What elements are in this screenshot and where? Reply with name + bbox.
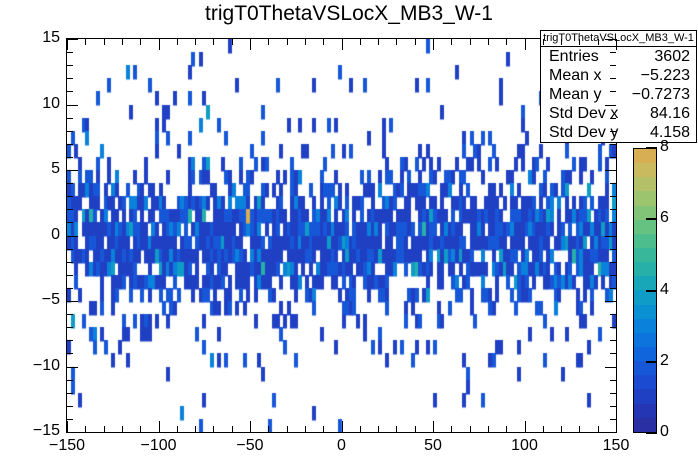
x-axis-tick <box>250 421 251 432</box>
y-axis-tick <box>67 367 78 368</box>
y-axis-tick <box>67 419 73 420</box>
x-axis-tick <box>433 421 434 432</box>
palette-tick <box>646 147 657 149</box>
palette-color-cell <box>634 347 656 361</box>
stats-row: Entries3602 <box>541 47 696 66</box>
y-axis-tick-right <box>610 380 616 381</box>
x-axis-tick-top <box>250 39 251 50</box>
y-axis-tick-right <box>610 91 616 92</box>
y-axis-tick <box>67 91 73 92</box>
palette-color-cell <box>634 149 656 163</box>
y-axis-tick-right <box>610 222 616 223</box>
x-axis-tick-top <box>616 39 617 50</box>
y-axis-tick <box>67 157 73 158</box>
x-axis-tick-top <box>177 39 178 45</box>
x-axis-tick-top <box>470 39 471 45</box>
y-axis-tick-right <box>610 157 616 158</box>
palette-color-cell <box>634 305 656 319</box>
x-axis-tick <box>561 426 562 432</box>
x-axis-tick-top <box>579 39 580 45</box>
y-axis-tick-right <box>610 340 616 341</box>
y-axis-tick-right <box>610 183 616 184</box>
x-axis-label: −150 <box>27 437 107 455</box>
x-axis-tick <box>525 421 526 432</box>
histogram-cells <box>67 39 616 432</box>
x-axis-tick-top <box>140 39 141 45</box>
palette-color-cell <box>634 276 656 290</box>
x-axis-label: −100 <box>119 437 199 455</box>
palette-tick <box>646 361 657 363</box>
x-axis-tick <box>506 426 507 432</box>
y-axis-tick-right <box>610 196 616 197</box>
y-axis-tick <box>67 78 73 79</box>
x-axis-tick <box>268 426 269 432</box>
y-axis-tick <box>67 432 78 433</box>
palette-tick <box>646 290 657 292</box>
y-axis-label: 5 <box>4 160 60 178</box>
palette-color-cell <box>634 234 656 248</box>
y-axis-tick <box>67 393 73 394</box>
y-axis-tick-right <box>610 52 616 53</box>
x-axis-tick-top <box>305 39 306 45</box>
x-axis-tick <box>195 426 196 432</box>
x-axis-label: 150 <box>576 437 656 455</box>
x-axis-tick-top <box>232 39 233 45</box>
x-axis-tick <box>213 426 214 432</box>
palette-color-cell <box>634 163 656 177</box>
palette-color-cell <box>634 262 656 276</box>
y-axis-tick-right <box>610 288 616 289</box>
x-axis-tick-top <box>159 39 160 50</box>
y-axis-tick <box>67 262 73 263</box>
y-axis-tick <box>67 196 73 197</box>
y-axis-tick-right <box>605 236 616 237</box>
x-axis-tick <box>360 426 361 432</box>
palette-tick-label: 8 <box>660 138 669 156</box>
x-axis-tick <box>85 426 86 432</box>
palette-color-cell <box>634 418 656 432</box>
y-axis-label: −5 <box>4 291 60 309</box>
x-axis-tick <box>305 426 306 432</box>
x-axis-tick <box>323 426 324 432</box>
palette-tick-label: 4 <box>660 281 669 299</box>
x-axis-tick-top <box>543 39 544 45</box>
y-axis-tick-right <box>610 118 616 119</box>
y-axis-tick-right <box>610 78 616 79</box>
x-axis-label: 0 <box>302 437 382 455</box>
y-axis-tick-right <box>610 131 616 132</box>
x-axis-tick <box>415 426 416 432</box>
y-axis-tick <box>67 406 73 407</box>
y-axis-tick-right <box>610 406 616 407</box>
x-axis-tick <box>342 421 343 432</box>
y-axis-tick-right <box>610 327 616 328</box>
y-axis-tick-right <box>610 65 616 66</box>
palette-tick-label: 0 <box>660 423 669 441</box>
y-axis-tick-right <box>605 301 616 302</box>
stats-box[interactable]: trigT0ThetaVSLocX_MB3_W-1 Entries3602Mea… <box>540 30 697 143</box>
x-axis-tick-top <box>433 39 434 50</box>
x-axis-label: −50 <box>210 437 290 455</box>
y-axis-tick-right <box>605 39 616 40</box>
y-axis-tick-right <box>605 367 616 368</box>
palette-color-cell <box>634 191 656 205</box>
x-axis-tick <box>378 426 379 432</box>
x-axis-tick <box>616 421 617 432</box>
stats-value: 84.16 <box>650 104 690 123</box>
y-axis-tick <box>67 52 73 53</box>
x-axis-tick <box>177 426 178 432</box>
x-axis-tick-top <box>396 39 397 45</box>
x-axis-tick <box>488 426 489 432</box>
y-axis-tick <box>67 131 73 132</box>
x-axis-tick-top <box>415 39 416 45</box>
x-axis-tick-top <box>195 39 196 45</box>
x-axis-tick-top <box>323 39 324 45</box>
y-axis-tick-right <box>610 419 616 420</box>
stats-key: Std Dev y <box>549 123 618 142</box>
y-axis-tick <box>67 249 73 250</box>
stats-box-title: trigT0ThetaVSLocX_MB3_W-1 <box>541 31 696 47</box>
y-axis-tick <box>67 236 78 237</box>
plot-frame <box>66 38 617 433</box>
palette-color-cell <box>634 248 656 262</box>
x-axis-tick-top <box>598 39 599 45</box>
x-axis-tick-top <box>213 39 214 45</box>
y-axis-tick <box>67 65 73 66</box>
x-axis-tick-top <box>342 39 343 50</box>
palette-color-cell <box>634 389 656 403</box>
y-axis-tick <box>67 275 73 276</box>
y-axis-tick <box>67 288 73 289</box>
x-axis-tick <box>451 426 452 432</box>
y-axis-tick-right <box>605 105 616 106</box>
palette-tick-label: 2 <box>660 352 669 370</box>
x-axis-tick <box>470 426 471 432</box>
x-axis-tick-top <box>360 39 361 45</box>
stats-key: Mean x <box>549 66 601 85</box>
palette-color-cell <box>634 375 656 389</box>
x-axis-tick <box>598 426 599 432</box>
palette-color-cell <box>634 319 656 333</box>
x-axis-tick <box>159 421 160 432</box>
stats-value: 3602 <box>654 47 690 66</box>
x-axis-tick-top <box>268 39 269 45</box>
x-axis-tick <box>287 426 288 432</box>
page-title: trigT0ThetaVSLocX_MB3_W-1 <box>0 2 698 26</box>
palette-color-cell <box>634 177 656 191</box>
y-axis-tick <box>67 118 73 119</box>
x-axis-label: 100 <box>485 437 565 455</box>
y-axis-label: 15 <box>4 29 60 47</box>
stats-key: Entries <box>549 47 599 66</box>
y-axis-tick <box>67 209 73 210</box>
y-axis-tick <box>67 105 78 106</box>
y-axis-tick <box>67 327 73 328</box>
x-axis-tick <box>232 426 233 432</box>
stats-row: Mean x−5.223 <box>541 66 696 85</box>
x-axis-tick-top <box>451 39 452 45</box>
y-axis-tick-right <box>605 170 616 171</box>
palette-color-cell <box>634 361 656 375</box>
y-axis-label: 0 <box>4 226 60 244</box>
x-axis-tick-top <box>378 39 379 45</box>
y-axis-tick <box>67 301 78 302</box>
stats-value: −5.223 <box>641 66 690 85</box>
x-axis-tick-top <box>488 39 489 45</box>
stats-key: Std Dev x <box>549 104 618 123</box>
y-axis-tick-right <box>610 275 616 276</box>
x-axis-tick-top <box>287 39 288 45</box>
x-axis-tick-top <box>85 39 86 45</box>
palette-tick <box>646 432 657 434</box>
x-axis-label: 50 <box>393 437 473 455</box>
y-axis-tick <box>67 39 78 40</box>
x-axis-tick <box>104 426 105 432</box>
y-axis-tick <box>67 314 73 315</box>
y-axis-tick-right <box>610 314 616 315</box>
stats-row: Std Dev x84.16 <box>541 104 696 123</box>
stats-key: Mean y <box>549 85 601 104</box>
palette-color-cell <box>634 220 656 234</box>
x-axis-tick <box>122 426 123 432</box>
stats-rows: Entries3602Mean x−5.223Mean y−0.7273Std … <box>541 47 696 142</box>
x-axis-tick <box>67 421 68 432</box>
y-axis-tick-right <box>605 432 616 433</box>
y-axis-tick <box>67 222 73 223</box>
x-axis-tick <box>140 426 141 432</box>
y-axis-tick <box>67 170 78 171</box>
y-axis-tick <box>67 340 73 341</box>
y-axis-tick <box>67 353 73 354</box>
y-axis-tick-right <box>610 144 616 145</box>
y-axis-label: −10 <box>4 357 60 375</box>
y-axis-tick <box>67 144 73 145</box>
x-axis-tick <box>396 426 397 432</box>
palette-tick <box>646 218 657 220</box>
x-axis-tick-top <box>104 39 105 45</box>
root-canvas: trigT0ThetaVSLocX_MB3_W-1 trigT0ThetaVSL… <box>0 0 698 476</box>
x-axis-tick <box>543 426 544 432</box>
y-axis-tick <box>67 380 73 381</box>
stats-value: −0.7273 <box>632 85 690 104</box>
y-axis-tick-right <box>610 393 616 394</box>
y-axis-tick <box>67 183 73 184</box>
x-axis-tick <box>579 426 580 432</box>
x-axis-tick-top <box>67 39 68 50</box>
stats-value: 4.158 <box>650 123 690 142</box>
palette-tick-label: 6 <box>660 209 669 227</box>
x-axis-tick-top <box>122 39 123 45</box>
x-axis-tick-top <box>506 39 507 45</box>
x-axis-tick-top <box>525 39 526 50</box>
y-axis-tick-right <box>610 209 616 210</box>
stats-row: Std Dev y4.158 <box>541 123 696 142</box>
palette-color-cell <box>634 290 656 304</box>
y-axis-tick-right <box>610 353 616 354</box>
y-axis-tick-right <box>610 249 616 250</box>
x-axis-tick-top <box>561 39 562 45</box>
stats-row: Mean y−0.7273 <box>541 85 696 104</box>
palette-color-cell <box>634 404 656 418</box>
y-axis-tick-right <box>610 262 616 263</box>
y-axis-label: 10 <box>4 95 60 113</box>
palette-color-cell <box>634 333 656 347</box>
